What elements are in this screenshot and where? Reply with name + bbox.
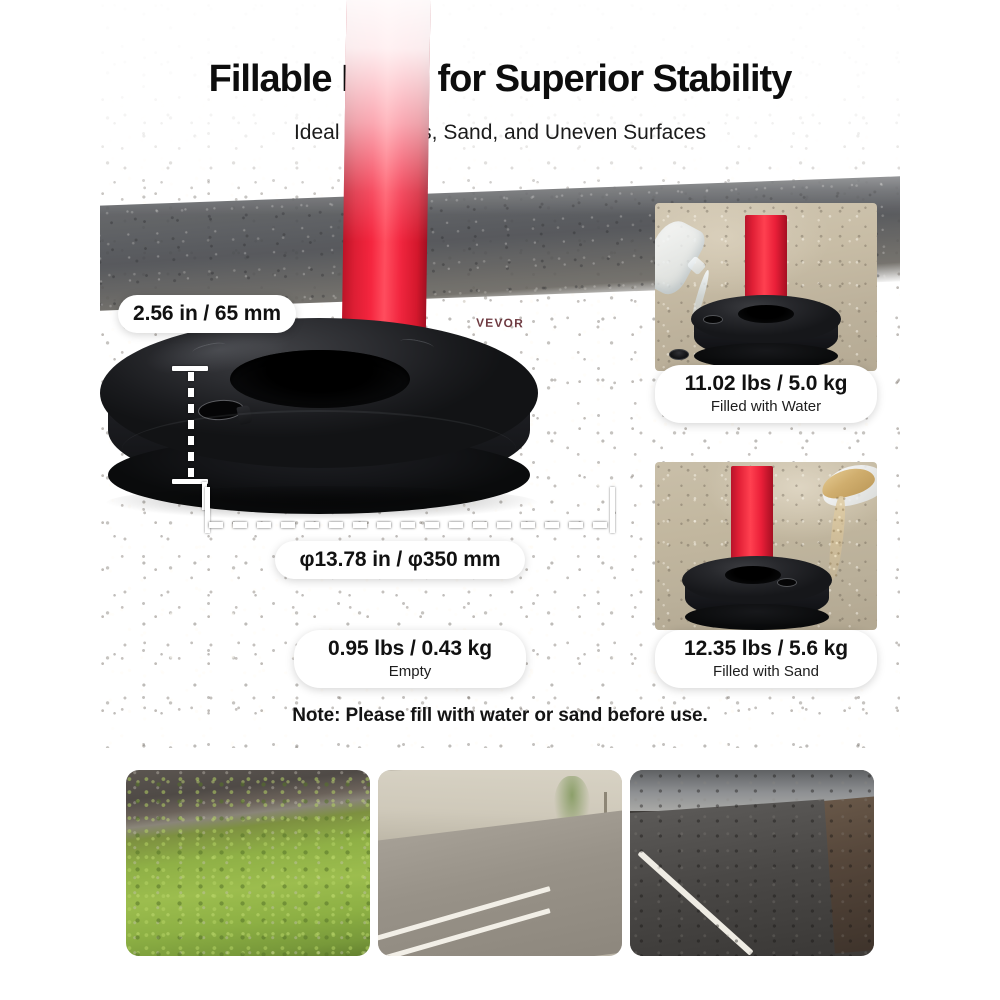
height-callout: 2.56 in / 65 mm <box>118 295 296 333</box>
page-subtitle: Ideal for Grass, Sand, and Uneven Surfac… <box>0 121 1000 145</box>
height-dimension-line <box>178 366 202 484</box>
weight-callout-empty: 0.95 lbs / 0.43 kg Empty <box>294 630 526 688</box>
base-post-socket <box>230 350 410 408</box>
water-inset-loose-cap <box>669 349 689 360</box>
weight-callout-water: 11.02 lbs / 5.0 kg Filled with Water <box>655 365 877 423</box>
open-highway-photo <box>630 770 874 956</box>
thumbnail-grass <box>126 770 370 956</box>
roadside-dirt <box>707 796 874 956</box>
weight-water-value: 11.02 lbs / 5.0 kg <box>685 372 848 396</box>
application-scenarios <box>0 770 1000 960</box>
diameter-value: φ13.78 in / φ350 mm <box>300 548 501 572</box>
overcast-sky <box>630 770 874 811</box>
weight-empty-value: 0.95 lbs / 0.43 kg <box>328 637 492 661</box>
header-fade-overlay <box>100 0 900 215</box>
thumbnail-road-wall <box>378 770 622 956</box>
height-dim-top-cap <box>172 366 208 371</box>
diameter-dimension-line <box>205 487 615 533</box>
diameter-dim-dashes <box>209 522 611 528</box>
weight-empty-label: Empty <box>389 662 432 682</box>
page-title: Fillable Base for Superior Stability <box>0 58 1000 101</box>
water-inset-fill-port <box>703 315 723 324</box>
paved-road-with-wall-photo <box>378 770 622 956</box>
sand-inset-fill-port <box>777 578 797 587</box>
diameter-dim-right-tick <box>610 487 615 533</box>
sand-inset-base-bottom <box>685 604 829 630</box>
usage-note: Note: Please fill with water or sand bef… <box>0 705 1000 727</box>
highway-edge-line <box>638 850 754 956</box>
sand-inset-socket <box>725 566 781 584</box>
weight-sand-value: 12.35 lbs / 5.6 kg <box>684 637 848 661</box>
height-dim-dashes <box>188 372 194 478</box>
highway-asphalt <box>630 800 835 956</box>
water-inset-socket <box>738 305 794 323</box>
inset-filled-with-water: VEVOR <box>655 203 877 371</box>
weight-sand-label: Filled with Sand <box>713 662 819 682</box>
inset-filled-with-sand: VEVOR <box>655 462 877 630</box>
weight-water-label: Filled with Water <box>711 397 821 417</box>
grass-surface-photo <box>126 770 370 956</box>
diameter-callout: φ13.78 in / φ350 mm <box>275 541 525 579</box>
thumbnail-highway <box>630 770 874 956</box>
height-value: 2.56 in / 65 mm <box>133 302 281 326</box>
weight-callout-sand: 12.35 lbs / 5.6 kg Filled with Sand <box>655 630 877 688</box>
